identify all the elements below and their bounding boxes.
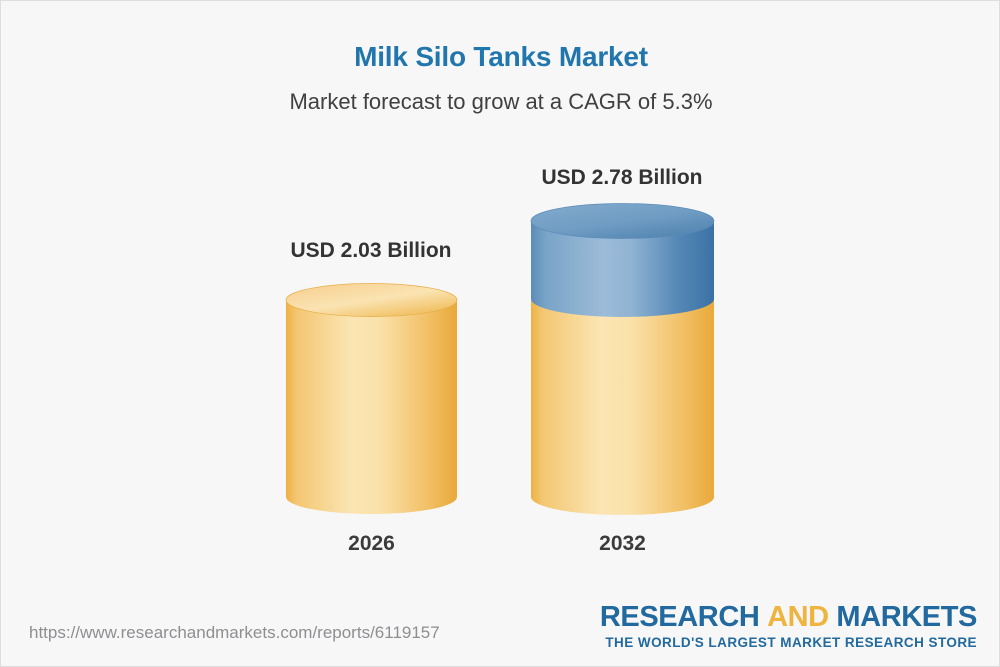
source-url[interactable]: https://www.researchandmarkets.com/repor…: [29, 623, 440, 643]
brand-tagline: THE WORLD'S LARGEST MARKET RESEARCH STOR…: [600, 635, 977, 650]
brand-logo[interactable]: RESEARCH AND MARKETS THE WORLD'S LARGEST…: [600, 602, 977, 650]
cylinder-2032-base-segment: [531, 299, 714, 515]
cylinder-2026-body: [286, 300, 457, 514]
brand-logo-wordmark: RESEARCH AND MARKETS: [600, 602, 977, 632]
chart-canvas: Milk Silo Tanks Market Market forecast t…: [0, 0, 1000, 667]
brand-word-markets: MARKETS: [836, 601, 977, 633]
value-label-2026: USD 2.03 Billion: [186, 239, 556, 263]
cylinder-2032: [531, 203, 714, 516]
category-label-2032: 2032: [531, 532, 714, 556]
cylinder-2026-top-cap: [286, 284, 457, 317]
brand-word-research: RESEARCH: [600, 601, 760, 633]
value-label-2032: USD 2.78 Billion: [437, 166, 807, 190]
brand-word-and: AND: [767, 601, 829, 633]
category-label-2026: 2026: [286, 532, 457, 556]
cylinder-2032-top-cap: [531, 204, 714, 239]
cylinder-2026: [286, 284, 457, 516]
chart-plot-area: USD 2.03 Billion: [1, 1, 1000, 601]
